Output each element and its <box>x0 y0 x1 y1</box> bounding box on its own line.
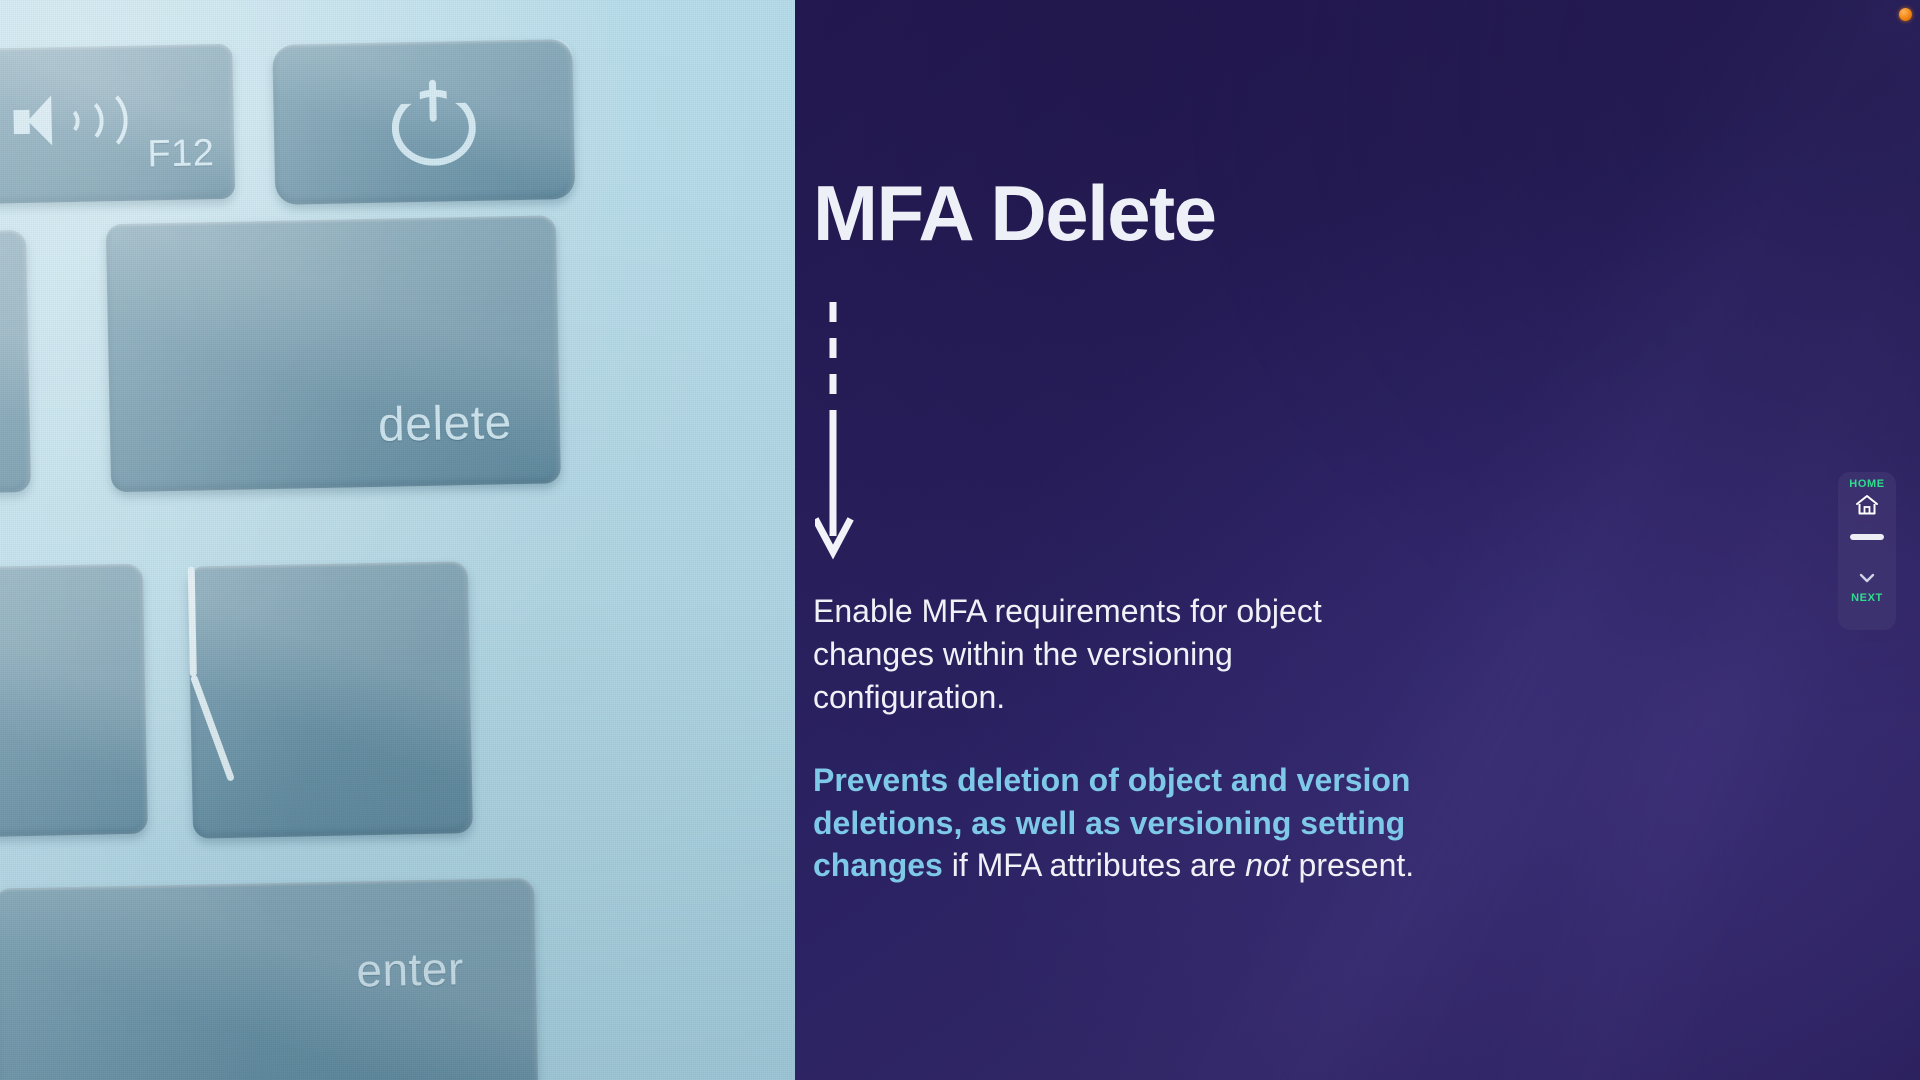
nav-next-label: NEXT <box>1851 592 1883 604</box>
nav-home-label: HOME <box>1849 478 1884 490</box>
keyboard-deck: F12 delete } ] enter <box>0 0 764 1080</box>
chevron-down-icon[interactable] <box>1859 570 1875 588</box>
plain-text-before-italic: if MFA attributes are <box>943 847 1245 883</box>
key-partial-left <box>0 230 31 495</box>
key-label-enter: enter <box>356 941 464 997</box>
key-f12: F12 <box>0 44 235 204</box>
slide-content-panel: MFA Delete Enable MFA requirements for o… <box>795 0 1920 1080</box>
key-label-delete: delete <box>378 395 513 453</box>
italic-emphasis: not <box>1245 847 1289 883</box>
key-pipe-backslash <box>188 561 473 839</box>
slide-body-copy: Enable MFA requirements for object chang… <box>813 590 1433 887</box>
volume-speaker-icon <box>13 88 134 160</box>
downward-dashed-arrow-icon <box>815 300 875 570</box>
slide-background-texture <box>795 0 1920 1080</box>
slide-navigation-widget[interactable]: HOME NEXT <box>1838 472 1896 630</box>
home-icon[interactable] <box>1854 493 1880 522</box>
progress-bar[interactable] <box>1850 534 1884 540</box>
keyboard-photo-panel: F12 delete } ] enter <box>0 0 795 1080</box>
recording-dot-icon <box>1899 8 1912 21</box>
key-enter: enter <box>0 878 539 1080</box>
page-title: MFA Delete <box>813 168 1216 259</box>
paragraph-prevents-deletion: Prevents deletion of object and version … <box>813 759 1433 888</box>
power-icon <box>391 79 477 167</box>
pipe-glyph <box>188 567 197 677</box>
plain-text-after-italic: present. <box>1290 847 1415 883</box>
backslash-glyph <box>190 674 235 782</box>
paragraph-enable-mfa: Enable MFA requirements for object chang… <box>813 590 1433 719</box>
key-right-brace-bracket: } ] <box>0 564 148 840</box>
key-delete: delete <box>106 215 561 492</box>
key-label-f12: F12 <box>147 132 215 176</box>
key-power <box>272 39 575 205</box>
